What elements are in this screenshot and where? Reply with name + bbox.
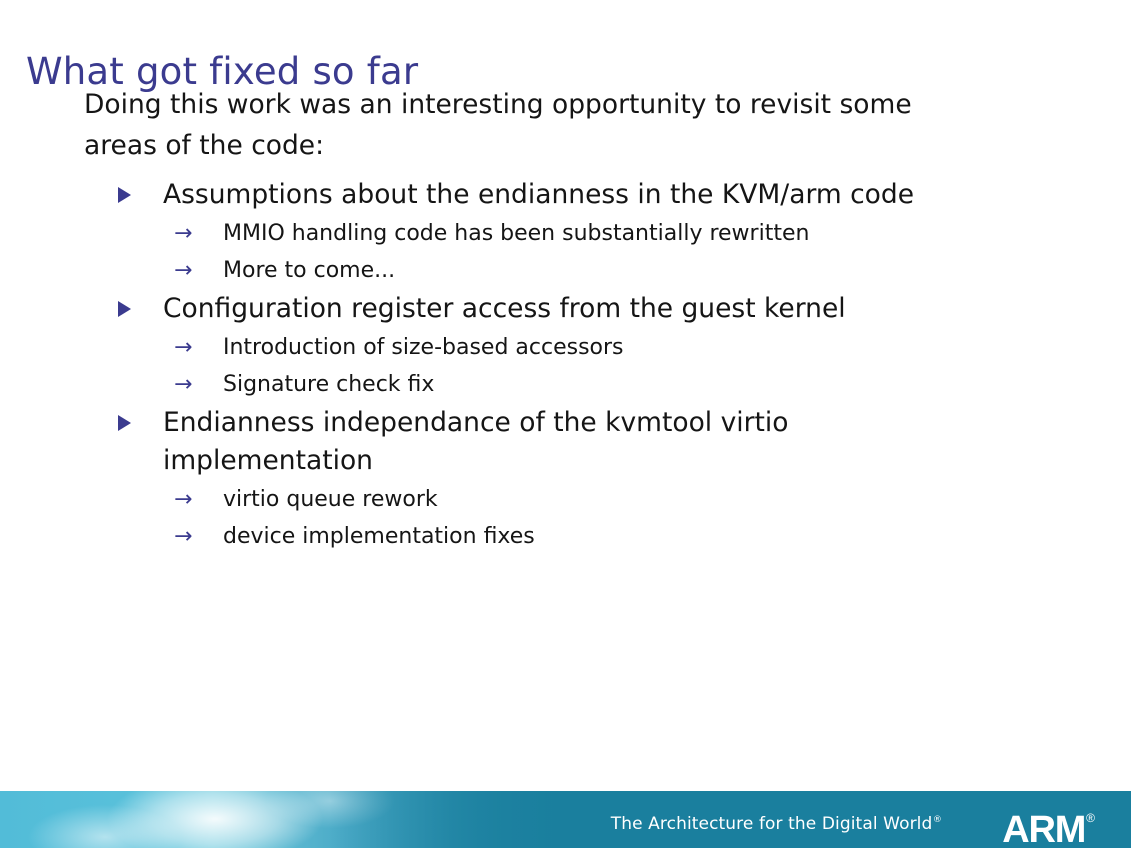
sub-bullet-label: More to come... xyxy=(223,258,395,283)
bullet-list: Assumptions about the endianness in the … xyxy=(0,176,1131,556)
slide-body: Doing this work was an interesting oppor… xyxy=(0,84,1131,556)
bullet-item: Assumptions about the endianness in the … xyxy=(118,176,993,290)
bullet-item: Configuration register access from the g… xyxy=(118,290,993,404)
bullet-label: Configuration register access from the g… xyxy=(163,290,993,328)
sub-bullet-item: → device implementation fixes xyxy=(174,519,993,556)
triangle-right-icon xyxy=(118,187,131,203)
sub-bullet-label: MMIO handling code has been substantiall… xyxy=(223,221,809,246)
footer-tagline-text: The Architecture for the Digital World xyxy=(611,814,933,834)
footer-tagline: The Architecture for the Digital World® xyxy=(611,810,942,834)
arm-logo: ARM® xyxy=(1002,796,1095,848)
arrow-right-icon: → xyxy=(174,253,192,289)
sub-bullet-item: → Introduction of size-based accessors xyxy=(174,330,993,367)
sub-bullet-label: virtio queue rework xyxy=(223,487,438,512)
registered-mark-icon: ® xyxy=(1086,811,1095,825)
triangle-right-icon xyxy=(118,415,131,431)
sub-bullet-label: Signature check fix xyxy=(223,372,434,397)
arrow-right-icon: → xyxy=(174,216,192,252)
triangle-right-icon xyxy=(118,301,131,317)
arrow-right-icon: → xyxy=(174,367,192,403)
bullet-label: Assumptions about the endianness in the … xyxy=(163,176,993,214)
sub-bullet-label: Introduction of size-based accessors xyxy=(223,335,624,360)
arrow-right-icon: → xyxy=(174,482,192,518)
arrow-right-icon: → xyxy=(174,519,192,555)
sub-bullet-list: → Introduction of size-based accessors →… xyxy=(163,330,993,404)
intro-paragraph: Doing this work was an interesting oppor… xyxy=(84,84,984,166)
registered-mark-icon: ® xyxy=(933,815,942,825)
bullet-item: Endianness independance of the kvmtool v… xyxy=(118,404,993,556)
bullet-label: Endianness independance of the kvmtool v… xyxy=(163,404,993,480)
arm-logo-text: ARM xyxy=(1002,809,1085,848)
slide-footer: The Architecture for the Digital World® … xyxy=(0,791,1131,848)
footer-sky-fade xyxy=(330,791,630,848)
sub-bullet-label: device implementation fixes xyxy=(223,524,535,549)
sub-bullet-item: → virtio queue rework xyxy=(174,482,993,519)
sub-bullet-item: → More to come... xyxy=(174,253,993,290)
slide: What got fixed so far Doing this work wa… xyxy=(0,0,1131,848)
arrow-right-icon: → xyxy=(174,330,192,366)
sub-bullet-item: → MMIO handling code has been substantia… xyxy=(174,216,993,253)
sub-bullet-list: → MMIO handling code has been substantia… xyxy=(163,216,993,290)
sub-bullet-item: → Signature check fix xyxy=(174,367,993,404)
sub-bullet-list: → virtio queue rework → device implement… xyxy=(163,482,993,556)
